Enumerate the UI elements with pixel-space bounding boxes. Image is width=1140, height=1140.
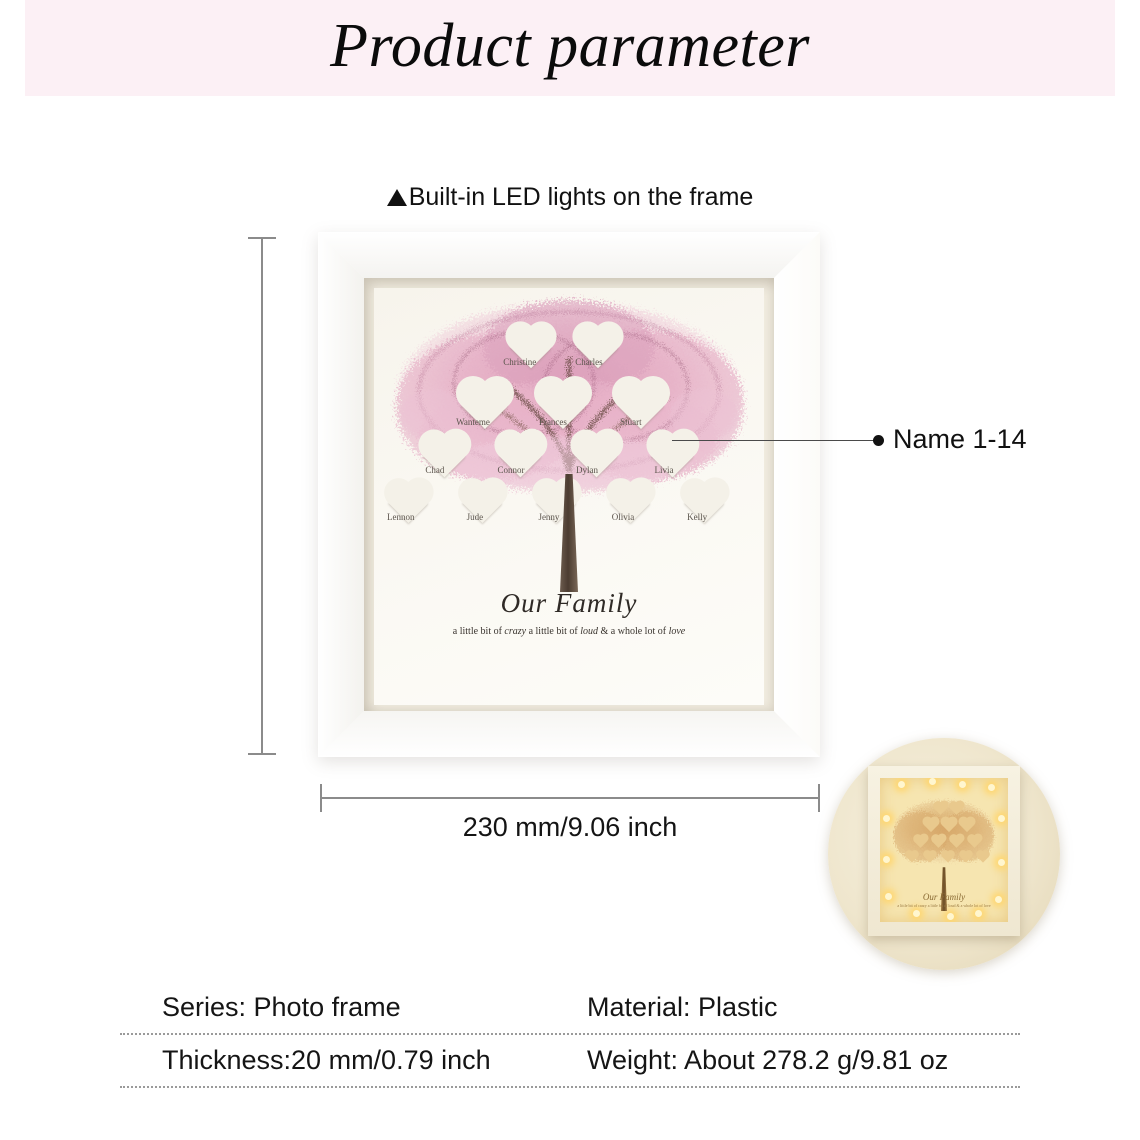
led-light-dot <box>959 781 966 788</box>
name-callout-leader-line <box>672 440 877 441</box>
tagline-emph-love: love <box>669 626 686 637</box>
led-light-dot <box>998 815 1005 822</box>
name-callout-label: Name 1-14 <box>893 424 1027 455</box>
triangle-up-icon <box>387 189 407 206</box>
dimension-tick-top <box>248 237 276 239</box>
led-light-dot <box>998 859 1005 866</box>
mini-tagline: a little bit of crazy a little bit of lo… <box>880 903 1008 908</box>
led-light-dot <box>947 913 954 920</box>
table-row: Thickness:20 mm/0.79 inch Weight: About … <box>120 1035 1020 1088</box>
led-light-dot <box>975 910 982 917</box>
width-dimension-line <box>320 797 820 799</box>
spec-series: Series: Photo frame <box>120 992 585 1023</box>
spec-material: Material: Plastic <box>585 992 778 1023</box>
frame-bevel-bottom <box>318 711 820 757</box>
tagline-emph-crazy: crazy <box>504 626 526 637</box>
tagline-part-2: a little bit of <box>526 626 580 637</box>
frame-bevel-right <box>774 232 820 757</box>
mini-script-title: Our Family <box>880 892 1008 902</box>
led-caption-text: Built-in LED lights on the frame <box>409 183 754 211</box>
frame-bevel-left <box>318 232 364 757</box>
led-light-dot <box>913 910 920 917</box>
tagline-part-1: a little bit of <box>453 626 505 637</box>
led-light-dot <box>883 815 890 822</box>
name-callout-dot <box>873 435 884 446</box>
led-caption: Built-in LED lights on the frame <box>310 183 830 212</box>
product-photo-frame: Christine Charles Wanteme Frances Stuart… <box>318 232 820 757</box>
led-light-dot <box>929 778 936 785</box>
lit-frame-body: Our Family a little bit of crazy a littl… <box>868 766 1020 936</box>
spec-thickness: Thickness:20 mm/0.79 inch <box>120 1045 585 1076</box>
spec-table: Series: Photo frame Material: Plastic Th… <box>120 982 1020 1088</box>
dimension-tick-right <box>818 784 820 812</box>
lit-frame-interior: Our Family a little bit of crazy a littl… <box>880 778 1008 922</box>
spec-weight: Weight: About 278.2 g/9.81 oz <box>585 1045 948 1076</box>
table-row: Series: Photo frame Material: Plastic <box>120 982 1020 1035</box>
led-light-dot <box>883 856 890 863</box>
tagline-emph-loud: loud <box>580 626 598 637</box>
led-light-dot <box>988 784 995 791</box>
artwork-script-title: Our Family <box>374 588 764 619</box>
led-light-dot <box>898 781 905 788</box>
led-lit-detail-inset: Our Family a little bit of crazy a littl… <box>828 738 1060 970</box>
dimension-tick-bottom <box>248 753 276 755</box>
frame-bevel-top <box>318 232 820 278</box>
dimension-tick-left <box>320 784 322 812</box>
height-dimension-line <box>261 237 263 755</box>
page-title: Product parameter <box>0 2 1140 90</box>
artwork-tagline: a little bit of crazy a little bit of lo… <box>374 626 764 637</box>
tagline-part-3: & a whole lot of <box>598 626 669 637</box>
family-tree-artwork: Christine Charles Wanteme Frances Stuart… <box>374 288 764 705</box>
width-dimension-label: 230 mm/9.06 inch <box>320 812 820 843</box>
